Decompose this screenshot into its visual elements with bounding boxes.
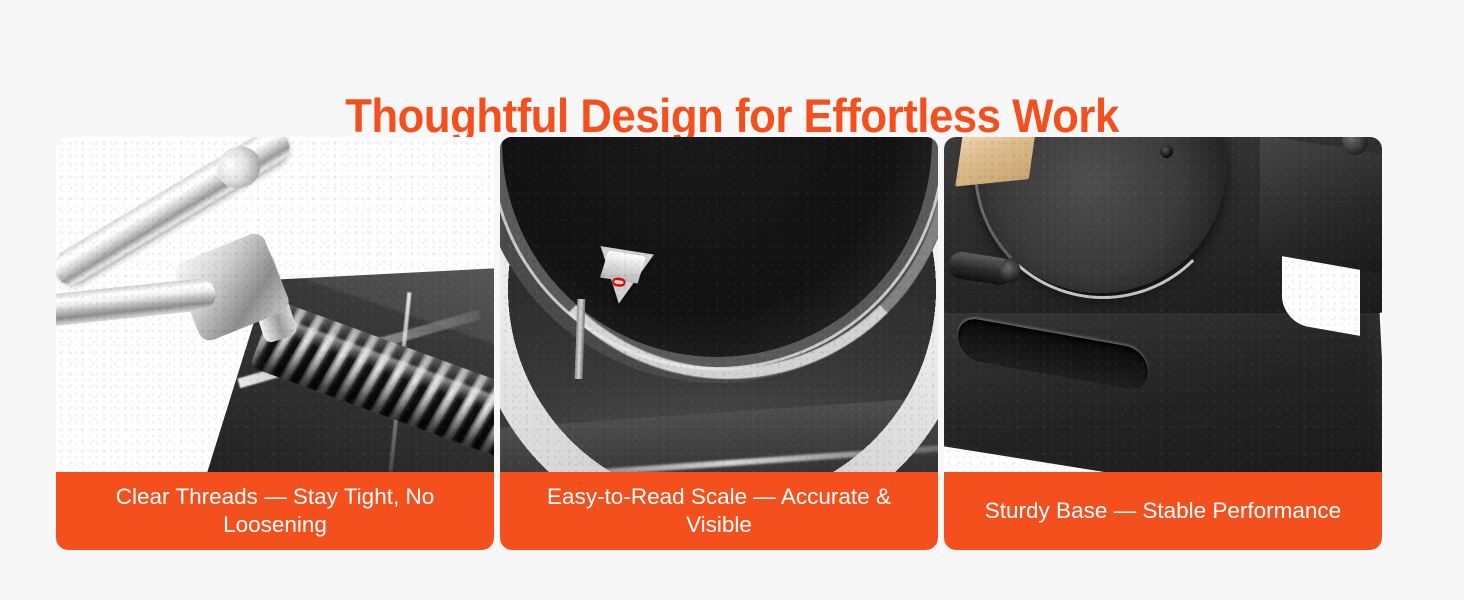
- product-image-sturdy-base: [944, 137, 1382, 472]
- handle-bar-cap-shape: [209, 138, 268, 196]
- feature-card-sturdy-base[interactable]: Sturdy Base — Stable Performance: [944, 137, 1382, 550]
- scale-zero-marking: 0: [606, 276, 629, 289]
- feature-card-clear-threads[interactable]: Clear Threads — Stay Tight, No Loosening: [56, 137, 494, 550]
- promo-banner: Thoughtful Design for Effortless Work Cl…: [0, 0, 1464, 600]
- feature-card-row: Clear Threads — Stay Tight, No Loosening…: [56, 137, 1386, 550]
- mounting-ear-shape: [1260, 137, 1382, 275]
- feature-caption-easy-to-read-scale: Easy-to-Read Scale — Accurate & Visible: [500, 472, 938, 550]
- bolt-hole-shape: [1160, 145, 1173, 158]
- feature-caption-sturdy-base: Sturdy Base — Stable Performance: [944, 472, 1382, 550]
- feature-card-easy-to-read-scale[interactable]: 0°10°20°30°40°50°60° 0 Easy-to-Read Scal…: [500, 137, 938, 550]
- wood-workpiece-shape: [955, 137, 1037, 187]
- feature-caption-clear-threads: Clear Threads — Stay Tight, No Loosening: [56, 472, 494, 550]
- product-image-easy-to-read-scale: 0°10°20°30°40°50°60° 0: [500, 137, 938, 472]
- handle-bar-lower-shape: [56, 277, 217, 329]
- product-image-clear-threads: [56, 137, 494, 472]
